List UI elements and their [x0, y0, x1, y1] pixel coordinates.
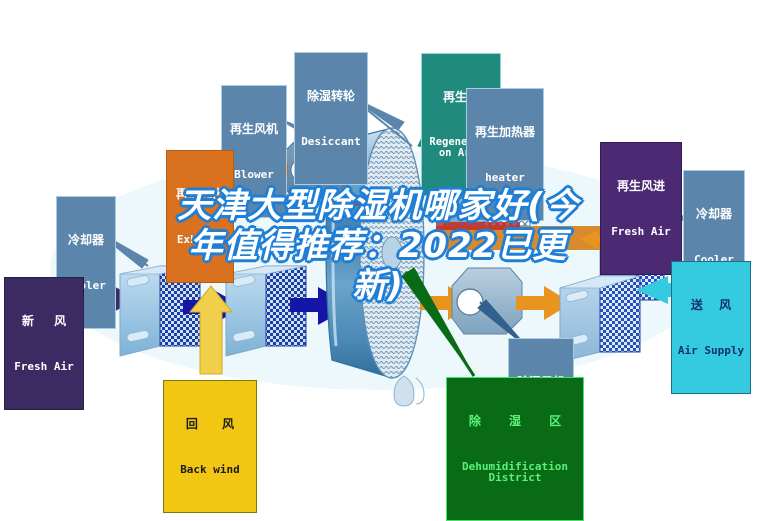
label-fresh-air: 新 风 Fresh Air	[4, 277, 84, 410]
label-desiccant-en: Desiccant	[297, 136, 365, 148]
watermark-line-2: 年值得推荐：2022已更	[128, 226, 628, 266]
watermark-line-1: 天津大型除湿机哪家好(今	[128, 186, 628, 226]
label-dehum-district-en: Dehumidification District	[449, 461, 581, 484]
label-fresh-air-cn: 新 风	[7, 315, 81, 328]
label-desiccant: 除湿转轮 Desiccant	[294, 52, 368, 185]
label-back-wind-en: Back wind	[166, 464, 254, 476]
label-cooler-right-cn: 冷却器	[686, 208, 742, 221]
label-fresh-air-en: Fresh Air	[7, 361, 81, 373]
watermark-overlay-text: 天津大型除湿机哪家好(今 年值得推荐：2022已更 新)	[128, 186, 628, 306]
label-air-supply-en: Air Supply	[674, 345, 748, 357]
label-regen-heater-cn: 再生加热器	[469, 126, 541, 139]
label-desiccant-cn: 除湿转轮	[297, 90, 365, 103]
label-back-wind-cn: 回 风	[166, 418, 254, 431]
diagram-canvas: 除湿转轮 Desiccant 再生风机 Blower 再生区 Regenerat…	[0, 0, 757, 488]
label-cooler-left-cn: 冷却器	[59, 234, 113, 247]
label-dehum-district: 除 湿 区 Dehumidification District	[446, 377, 584, 521]
label-air-supply: 送 风 Air Supply	[671, 261, 751, 394]
label-back-wind: 回 风 Back wind	[163, 380, 257, 513]
label-dehum-district-cn: 除 湿 区	[449, 415, 581, 428]
label-air-supply-cn: 送 风	[674, 299, 748, 312]
label-regen-heater-en: heater	[469, 172, 541, 184]
watermark-line-3: 新)	[128, 266, 628, 306]
label-regen-blower-cn: 再生风机	[224, 123, 284, 136]
